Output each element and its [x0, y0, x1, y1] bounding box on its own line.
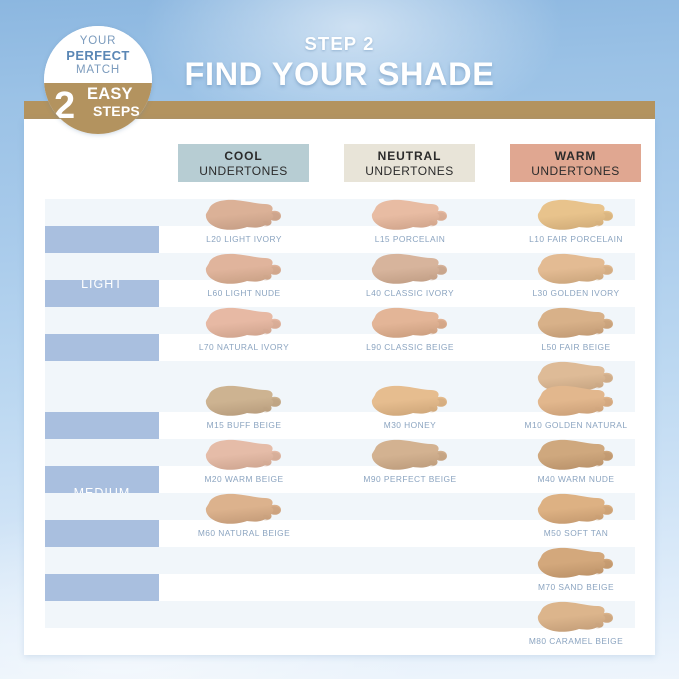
- column-header-cool-title: COOL: [178, 149, 309, 164]
- foundation-swatch-icon: [199, 197, 289, 237]
- shade-swatch: [164, 251, 324, 291]
- shade-cell[interactable]: L90 CLASSIC BEIGE: [330, 305, 490, 360]
- badge-upper-half: YOUR PERFECT MATCH: [44, 26, 152, 83]
- shade-label: L30 GOLDEN IVORY: [496, 288, 656, 298]
- shade-label: M60 NATURAL BEIGE: [164, 528, 324, 538]
- foundation-swatch-icon: [531, 383, 621, 423]
- foundation-swatch-icon: [199, 383, 289, 423]
- shade-swatch: [496, 491, 656, 531]
- shade-label: L60 LIGHT NUDE: [164, 288, 324, 298]
- shade-swatch: [164, 437, 324, 477]
- shade-finder-card: COOL UNDERTONES NEUTRAL UNDERTONES WARM …: [24, 119, 655, 655]
- shade-swatch: [164, 491, 324, 531]
- shade-cell[interactable]: M10 GOLDEN NATURAL: [496, 383, 656, 438]
- column-header-warm[interactable]: WARM UNDERTONES: [510, 144, 641, 182]
- shade-label: M40 WARM NUDE: [496, 474, 656, 484]
- shade-swatch: [330, 197, 490, 237]
- shade-label: M80 CARAMEL BEIGE: [496, 636, 656, 646]
- shade-swatch: [164, 305, 324, 345]
- shade-cell[interactable]: L20 LIGHT IVORY: [164, 197, 324, 252]
- shade-cell[interactable]: M30 HONEY: [330, 383, 490, 438]
- shade-cell[interactable]: L70 NATURAL IVORY: [164, 305, 324, 360]
- foundation-swatch-icon: [199, 305, 289, 345]
- shade-swatch: [496, 437, 656, 477]
- shade-label: L20 LIGHT IVORY: [164, 234, 324, 244]
- shade-cell[interactable]: M80 CARAMEL BEIGE: [496, 599, 656, 654]
- foundation-swatch-icon: [531, 251, 621, 291]
- shade-cell[interactable]: M70 SAND BEIGE: [496, 545, 656, 600]
- shade-swatch: [330, 305, 490, 345]
- shade-label: L70 NATURAL IVORY: [164, 342, 324, 352]
- shade-label: M20 WARM BEIGE: [164, 474, 324, 484]
- shade-swatch: [164, 197, 324, 237]
- badge-step-number: 2: [54, 84, 75, 128]
- foundation-swatch-icon: [365, 383, 455, 423]
- shade-cell[interactable]: M50 SOFT TAN: [496, 491, 656, 546]
- shade-swatch: [496, 251, 656, 291]
- perfect-match-badge: YOUR PERFECT MATCH 2 EASY STEPS: [44, 26, 152, 134]
- shade-cell[interactable]: L60 LIGHT NUDE: [164, 251, 324, 306]
- shade-cell[interactable]: L10 FAIR PORCELAIN: [496, 197, 656, 252]
- foundation-swatch-icon: [365, 437, 455, 477]
- shade-swatch: [496, 599, 656, 639]
- column-header-cool-subtitle: UNDERTONES: [178, 164, 309, 179]
- foundation-swatch-icon: [365, 251, 455, 291]
- poster-canvas: STEP 2 FIND YOUR SHADE YOUR PERFECT MATC…: [0, 0, 679, 679]
- column-header-warm-title: WARM: [510, 149, 641, 164]
- column-header-cool[interactable]: COOL UNDERTONES: [178, 144, 309, 182]
- foundation-swatch-icon: [531, 305, 621, 345]
- shade-label: M10 GOLDEN NATURAL: [496, 420, 656, 430]
- shade-cell[interactable]: M60 NATURAL BEIGE: [164, 491, 324, 546]
- badge-line-perfect: PERFECT: [44, 48, 152, 63]
- shade-label: L10 FAIR PORCELAIN: [496, 234, 656, 244]
- shade-swatch: [330, 383, 490, 423]
- shade-label: M15 BUFF BEIGE: [164, 420, 324, 430]
- column-header-neutral[interactable]: NEUTRAL UNDERTONES: [344, 144, 475, 182]
- foundation-swatch-icon: [531, 437, 621, 477]
- column-header-warm-subtitle: UNDERTONES: [510, 164, 641, 179]
- badge-line-easy: EASY: [87, 85, 133, 103]
- column-header-neutral-title: NEUTRAL: [344, 149, 475, 164]
- shade-cell[interactable]: L50 FAIR BEIGE: [496, 305, 656, 360]
- shade-label: M90 PERFECT BEIGE: [330, 474, 490, 484]
- shade-swatch: [496, 305, 656, 345]
- shade-swatch: [496, 383, 656, 423]
- shade-swatch: [330, 251, 490, 291]
- shade-label: L90 CLASSIC BEIGE: [330, 342, 490, 352]
- shade-cell[interactable]: L15 PORCELAIN: [330, 197, 490, 252]
- foundation-swatch-icon: [365, 197, 455, 237]
- shade-cell[interactable]: M90 PERFECT BEIGE: [330, 437, 490, 492]
- undertone-column-headers: COOL UNDERTONES NEUTRAL UNDERTONES WARM …: [24, 144, 655, 184]
- shade-cell[interactable]: L40 CLASSIC IVORY: [330, 251, 490, 306]
- shade-cell[interactable]: L30 GOLDEN IVORY: [496, 251, 656, 306]
- foundation-swatch-icon: [531, 545, 621, 585]
- shade-swatch: [164, 383, 324, 423]
- shade-label: M50 SOFT TAN: [496, 528, 656, 538]
- shade-cell[interactable]: M15 BUFF BEIGE: [164, 383, 324, 438]
- shade-label: L40 CLASSIC IVORY: [330, 288, 490, 298]
- shade-cell[interactable]: M40 WARM NUDE: [496, 437, 656, 492]
- foundation-swatch-icon: [199, 251, 289, 291]
- shade-swatch: [330, 437, 490, 477]
- column-header-neutral-subtitle: UNDERTONES: [344, 164, 475, 179]
- foundation-swatch-icon: [531, 197, 621, 237]
- foundation-swatch-icon: [531, 491, 621, 531]
- shade-label: M30 HONEY: [330, 420, 490, 430]
- shade-label: L15 PORCELAIN: [330, 234, 490, 244]
- foundation-swatch-icon: [199, 437, 289, 477]
- foundation-swatch-icon: [531, 599, 621, 639]
- shade-label: M70 SAND BEIGE: [496, 582, 656, 592]
- shade-swatch: [496, 545, 656, 585]
- foundation-swatch-icon: [199, 491, 289, 531]
- shade-swatch: [496, 197, 656, 237]
- badge-line-your: YOUR: [44, 35, 152, 48]
- shade-label: L50 FAIR BEIGE: [496, 342, 656, 352]
- foundation-swatch-icon: [365, 305, 455, 345]
- badge-line-steps: STEPS: [93, 103, 140, 119]
- shade-cell[interactable]: M20 WARM BEIGE: [164, 437, 324, 492]
- badge-line-match: MATCH: [44, 63, 152, 77]
